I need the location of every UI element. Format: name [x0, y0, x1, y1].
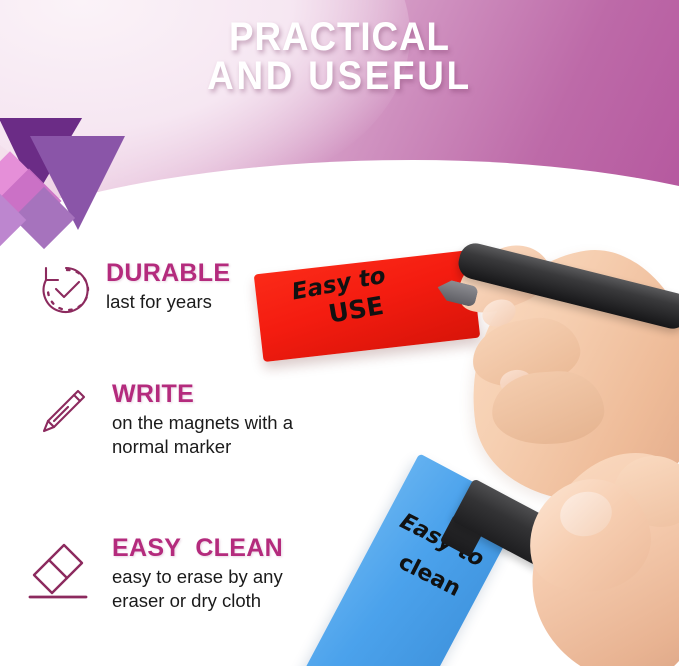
product-infographic: PRACTICAL AND USEFUL Easy to USE Easy to…	[0, 0, 679, 666]
feature-item-easy-clean: EASY CLEAN easy to erase by any eraser o…	[24, 535, 283, 612]
eraser-icon	[24, 535, 86, 597]
pencil-icon	[32, 381, 94, 443]
feature-body-durable: last for years	[106, 290, 230, 313]
feature-heading-easy-clean: EASY CLEAN	[112, 535, 283, 561]
red-magnet-handwriting: Easy to USE	[290, 257, 465, 331]
feature-body-easy-clean: easy to erase by any eraser or dry cloth	[112, 565, 283, 612]
title-line-1: PRACTICAL	[27, 18, 652, 57]
feature-text-write: WRITE on the magnets with a normal marke…	[102, 381, 293, 458]
title-line-2: AND USEFUL	[27, 57, 652, 96]
feature-item-durable: DURABLE last for years	[36, 258, 230, 320]
decorative-shapes-svg	[0, 118, 150, 253]
page-title: PRACTICAL AND USEFUL	[27, 18, 652, 96]
feature-body-write: on the magnets with a normal marker	[112, 411, 293, 458]
feature-text-durable: DURABLE last for years	[106, 258, 230, 314]
feature-item-write: WRITE on the magnets with a normal marke…	[32, 381, 293, 458]
decorative-shapes-group	[0, 118, 150, 248]
feature-heading-durable: DURABLE	[106, 260, 230, 286]
clock-check-icon	[36, 258, 98, 320]
feature-text-easy-clean: EASY CLEAN easy to erase by any eraser o…	[94, 535, 283, 612]
feature-heading-write: WRITE	[112, 381, 293, 407]
